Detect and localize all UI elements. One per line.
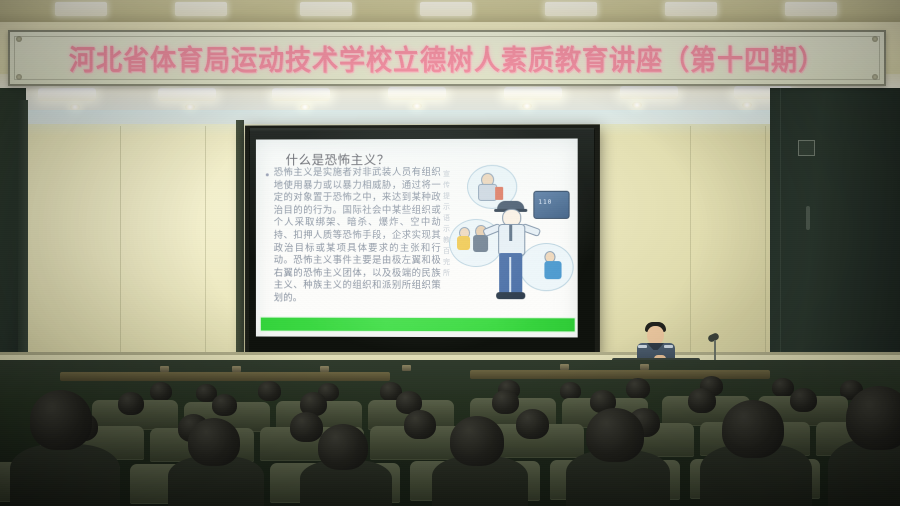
illustration-side-caption: 宣 传 提 示 语 示 教 百 完 所 (443, 169, 453, 279)
ceiling-light (504, 87, 562, 100)
rail-clip (232, 366, 241, 372)
audience-head-foreground (846, 386, 900, 450)
audience-head (290, 412, 323, 442)
cartoon-child-body (457, 236, 470, 250)
ceiling-light (620, 86, 678, 99)
slide-body-text: 恐怖主义是实施者对非武装人员有组织地使用暴力或以暴力相威胁，通过将一定的对象置于… (274, 167, 441, 306)
ceiling-light (272, 88, 330, 101)
left-wall-trim (236, 120, 244, 360)
rail-clip (320, 366, 329, 372)
slide-title: 什么是恐怖主义？ (286, 149, 390, 168)
audience-head-foreground (30, 390, 92, 450)
left-column (18, 100, 28, 388)
ceiling-panel (665, 2, 717, 16)
downlight (412, 103, 422, 109)
seat-rail (470, 370, 770, 379)
led-banner: 河北省体育局运动技术学校立德树人素质教育讲座（第十四期） (8, 30, 886, 86)
downlight (522, 103, 532, 109)
downlight (742, 102, 752, 108)
audience-head (450, 416, 504, 466)
tv-screen-icon: 110 (533, 191, 569, 219)
cartoon-legs (499, 253, 522, 293)
ceiling-panel (420, 2, 472, 16)
seat-rail (60, 372, 390, 381)
wall-seam (205, 126, 206, 356)
banner-inner-frame: 河北省体育局运动技术学校立德树人素质教育讲座（第十四期） (14, 36, 880, 80)
upper-ceiling-strip (0, 0, 900, 22)
wall-seam (690, 126, 691, 352)
cartoon-person-body (544, 261, 561, 279)
audience-head (586, 408, 644, 462)
rail-clip (640, 364, 649, 370)
ceiling-panel (545, 2, 597, 16)
wall-seam (765, 126, 766, 352)
audience-head (258, 381, 281, 401)
light-switch[interactable] (798, 140, 815, 156)
emergency-number-text: 110 (538, 199, 552, 206)
wall-seam (120, 126, 121, 356)
audience-head (318, 424, 368, 470)
audience-head (212, 394, 237, 416)
stage-edge (0, 352, 900, 355)
audience-head (492, 390, 519, 414)
audience-shoulders (10, 444, 120, 506)
ceiling-light (388, 87, 446, 100)
anti-terror-cartoon-illustration: 宣 传 提 示 语 示 教 百 完 所 110 (449, 165, 570, 314)
speaker-epaulette-left (638, 345, 647, 348)
right-dark-door-panel (770, 88, 900, 388)
door-frame-line (780, 88, 781, 388)
ceiling-panel (785, 2, 837, 16)
cartoon-person-body (473, 235, 488, 252)
speaker-epaulette-right (664, 345, 673, 348)
cartoon-tie (509, 225, 512, 241)
slide-accent-bar (260, 317, 576, 333)
audience-head (150, 382, 172, 401)
door-handle[interactable] (806, 206, 810, 230)
cartoon-shoes (496, 292, 525, 299)
audience-head (626, 378, 650, 399)
audience-area (0, 360, 900, 506)
ceiling-panel (55, 2, 107, 16)
audience-head (688, 388, 716, 413)
downlight (632, 102, 642, 108)
slide-bullet-marker (266, 173, 269, 176)
audience-head (722, 400, 784, 458)
ceiling-light (38, 88, 96, 101)
audience-head (404, 410, 436, 439)
rail-clip (402, 365, 411, 371)
projection-screen: 什么是恐怖主义？ 恐怖主义是实施者对非武装人员有组织地使用暴力或以暴力相威胁，通… (245, 124, 600, 357)
rail-clip (160, 366, 169, 372)
audience-head (188, 418, 240, 466)
lecture-hall-photo: 河北省体育局运动技术学校立德树人素质教育讲座（第十四期） 什么是恐怖主义？ 恐怖… (0, 0, 900, 506)
ceiling-light (158, 88, 216, 101)
banner-title-text: 河北省体育局运动技术学校立德树人素质教育讲座（第十四期） (69, 38, 825, 77)
audience-head (118, 392, 144, 415)
rail-clip (560, 364, 569, 370)
ceiling-panel (300, 2, 352, 16)
audience-head (516, 409, 549, 439)
ceiling-panel (175, 2, 227, 16)
audience-head (790, 388, 817, 412)
cartoon-police-officer (493, 199, 529, 303)
presentation-slide: 什么是恐怖主义？ 恐怖主义是实施者对非武装人员有组织地使用暴力或以暴力相威胁，通… (256, 139, 578, 338)
